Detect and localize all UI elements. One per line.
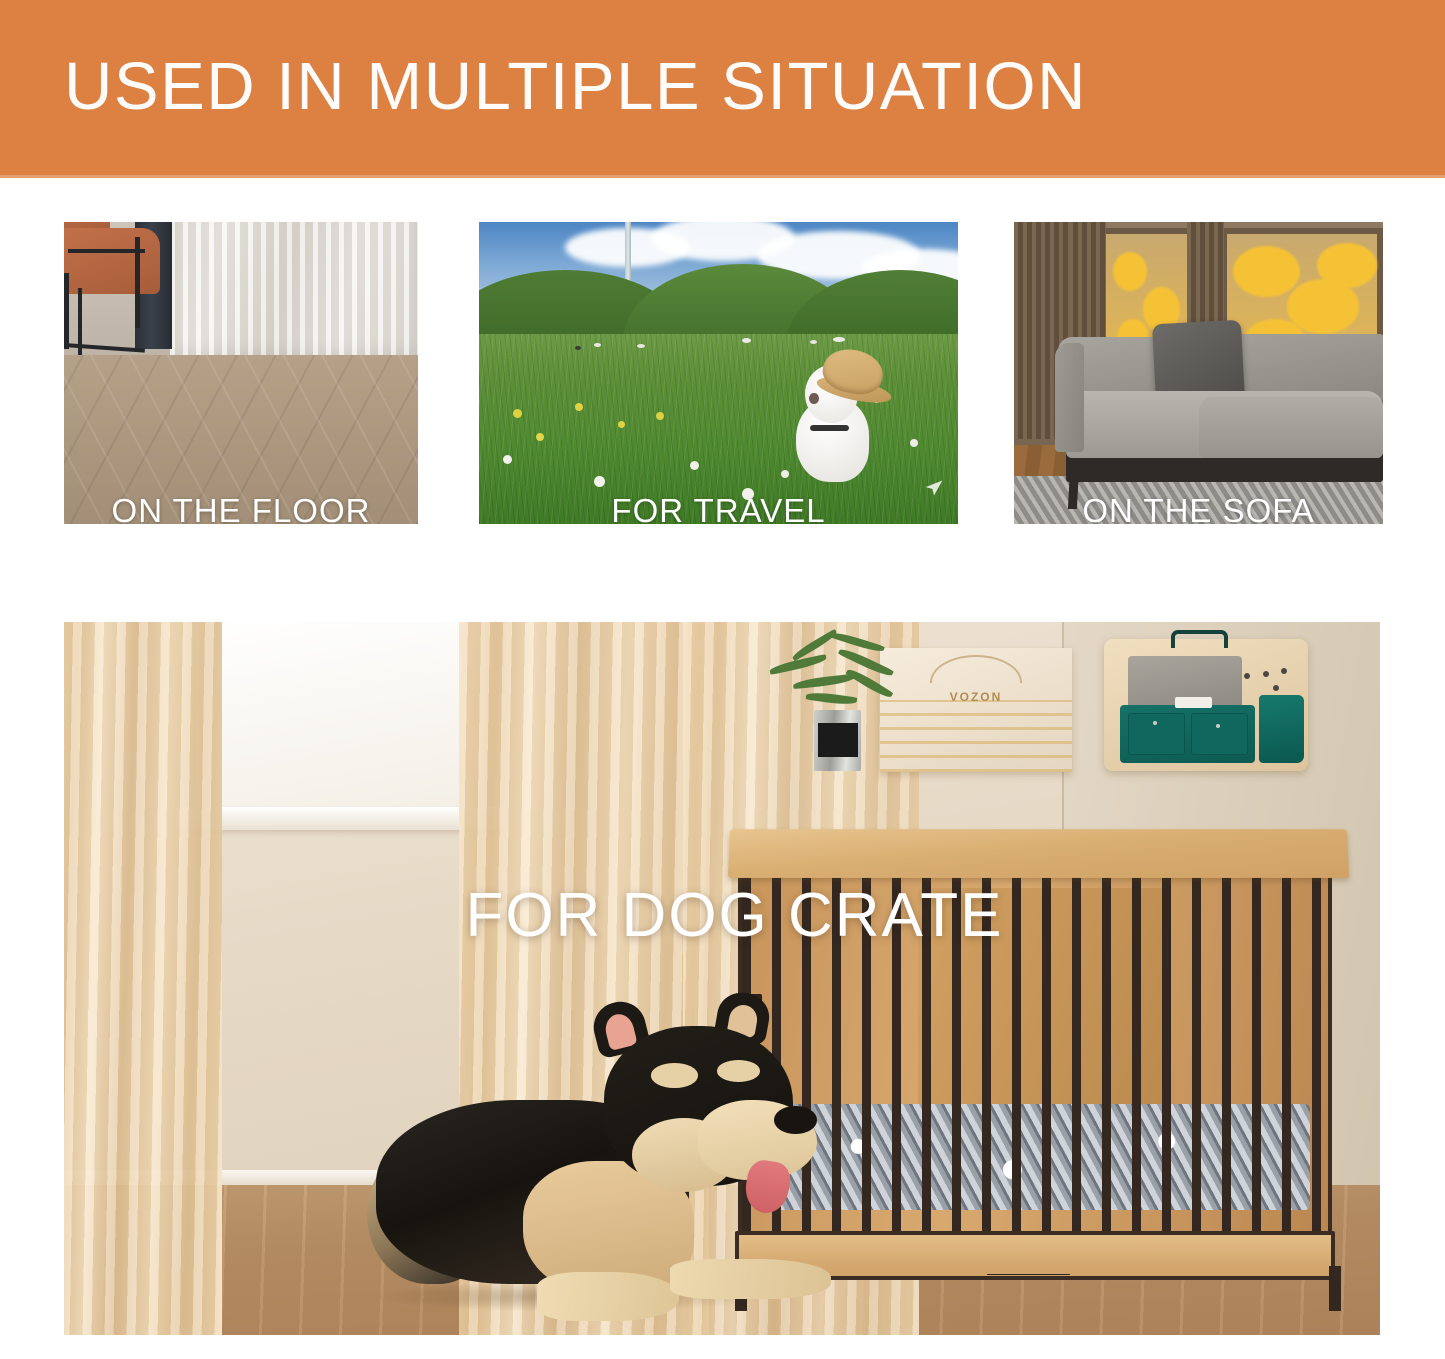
white-flower bbox=[503, 455, 512, 464]
carrier-snap-left bbox=[1153, 721, 1157, 725]
armchair-seat bbox=[64, 228, 160, 294]
thumbnail-on-the-floor[interactable]: ON THE FLOOR bbox=[64, 222, 418, 524]
malamute-dog bbox=[367, 1014, 841, 1321]
potted-plant bbox=[755, 636, 926, 722]
dog-brow-right bbox=[717, 1060, 760, 1081]
armchair-frame-right bbox=[135, 237, 140, 328]
dog-nose bbox=[774, 1106, 817, 1134]
thumbnail-caption: FOR TRAVEL bbox=[479, 492, 958, 524]
product-marketing-page: USED IN MULTIPLE SITUATION ON THE FLOOR bbox=[0, 0, 1445, 1359]
armchair-frame-left bbox=[64, 273, 69, 349]
sheep-dark bbox=[575, 346, 581, 350]
page-title: USED IN MULTIPLE SITUATION bbox=[64, 52, 1087, 122]
sheep bbox=[810, 340, 817, 344]
hero-dog-crate-image[interactable]: VOZON bbox=[64, 622, 1380, 1335]
window-sill bbox=[176, 807, 505, 830]
scenario-thumbnail-row: ON THE FLOOR bbox=[0, 222, 1445, 524]
sofa-seat-right bbox=[1199, 397, 1384, 457]
dog-nose bbox=[809, 393, 819, 404]
hero-caption: FOR DOG CRATE bbox=[64, 880, 1380, 951]
pet-carrier-backpack bbox=[1104, 639, 1308, 771]
yellow-flower bbox=[513, 409, 522, 418]
sheep bbox=[594, 343, 601, 347]
sofa-armrest bbox=[1055, 343, 1085, 452]
sheer-curtain-left bbox=[64, 622, 222, 1335]
sheer-curtain bbox=[170, 222, 418, 361]
carrier-vent-hole bbox=[1263, 671, 1269, 677]
dog-paw-near bbox=[537, 1272, 679, 1321]
thumbnail-on-the-sofa[interactable]: ON THE SOFA bbox=[1014, 222, 1383, 524]
carrier-handle bbox=[1171, 630, 1228, 648]
thumbnail-for-travel[interactable]: FOR TRAVEL bbox=[479, 222, 958, 524]
shopping-bag-handle bbox=[930, 655, 1022, 682]
dog-brow-left bbox=[651, 1063, 698, 1088]
floor-scene-image bbox=[64, 222, 418, 524]
white-flower bbox=[594, 476, 605, 487]
sofa-scene-image bbox=[1014, 222, 1383, 524]
window bbox=[196, 622, 486, 822]
carrier-snap-right bbox=[1216, 724, 1220, 728]
thumbnail-caption: ON THE FLOOR bbox=[64, 492, 418, 524]
thumbnail-caption: ON THE SOFA bbox=[1014, 492, 1383, 524]
plant-can-vase bbox=[814, 710, 861, 771]
dog-collar bbox=[810, 425, 848, 431]
yellow-flower bbox=[575, 403, 583, 411]
white-flower bbox=[690, 461, 699, 470]
can-label bbox=[818, 723, 858, 757]
dog-with-straw-hat bbox=[790, 355, 881, 482]
armchair-frame-top bbox=[68, 249, 146, 253]
carrier-pocket-left bbox=[1128, 713, 1185, 755]
carrier-brand-tag bbox=[1175, 697, 1212, 708]
crate-wood-tabletop bbox=[727, 829, 1348, 877]
armchair-leg bbox=[78, 288, 82, 354]
carrier-side-panel bbox=[1259, 695, 1304, 764]
carrier-pocket-right bbox=[1191, 713, 1248, 755]
header-banner: USED IN MULTIPLE SITUATION bbox=[0, 0, 1445, 178]
dog-paw-far bbox=[670, 1259, 831, 1299]
banner-bottom-edge bbox=[0, 175, 1445, 178]
crate-handle[interactable] bbox=[987, 1274, 1070, 1276]
crate-leg-right bbox=[1329, 1266, 1341, 1310]
travel-scene-image bbox=[479, 222, 958, 524]
sheep bbox=[833, 337, 845, 342]
white-flower bbox=[781, 470, 789, 478]
